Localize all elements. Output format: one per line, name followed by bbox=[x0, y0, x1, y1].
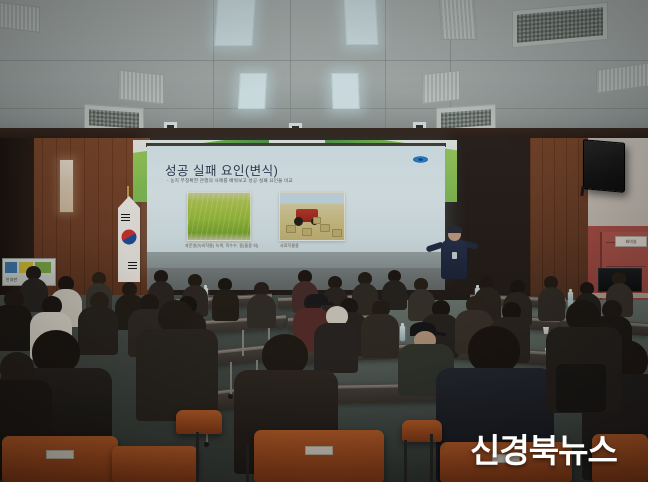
wall-sconce-light bbox=[59, 159, 74, 213]
table-leg bbox=[242, 330, 244, 356]
wall-board-label: 안내판 bbox=[6, 277, 17, 283]
blue-diamond-logo bbox=[412, 154, 429, 165]
slide-title: 성공 실패 요인(변식) bbox=[165, 160, 278, 179]
chair-leg bbox=[246, 444, 249, 482]
vent-3 bbox=[422, 70, 460, 104]
chair[interactable] bbox=[176, 410, 222, 434]
presenter bbox=[432, 228, 476, 292]
light-panel-4 bbox=[331, 73, 359, 109]
projection-screen: 성공 실패 요인(변식) - 농지 부정확한 관행의 사례를 배워보고 성공·실… bbox=[147, 146, 445, 268]
vent-5 bbox=[439, 0, 478, 40]
slide-caption-left: 자운영(녹비작물) 녹색, 옥수수, 콩(돌콩 외) bbox=[185, 243, 275, 249]
table-leg bbox=[230, 362, 232, 396]
light-panel-2 bbox=[344, 0, 379, 45]
bag bbox=[556, 364, 606, 412]
chair[interactable] bbox=[2, 436, 118, 482]
korean-national-flag bbox=[118, 196, 140, 282]
presenter-body bbox=[441, 239, 467, 279]
slide-bullet-text: - 농지 부정확한 관행의 사례를 배워보고 성공·실패 요인을 비교 bbox=[167, 178, 293, 184]
table-caster bbox=[204, 442, 209, 447]
light-panel-3 bbox=[238, 73, 267, 109]
taeguk-symbol bbox=[122, 230, 137, 245]
vent-2 bbox=[118, 70, 164, 105]
chair-leg bbox=[430, 434, 433, 482]
chair-leg bbox=[196, 432, 199, 482]
chair-leg bbox=[404, 440, 407, 482]
wall-mounted-speaker bbox=[583, 139, 625, 193]
slide-caption-right: 사료작물용 bbox=[280, 243, 299, 249]
water-bottle bbox=[400, 326, 405, 341]
chair[interactable] bbox=[402, 420, 442, 442]
chair-label-tag bbox=[305, 446, 333, 455]
photo-scene: 회의실 안내판 경북 농업기술원 한 교육과정 교육 성공 실패 요인(변식) … bbox=[0, 0, 648, 482]
table-caster bbox=[228, 394, 233, 399]
presenter-name-badge bbox=[452, 252, 457, 259]
light-panel-1 bbox=[214, 0, 255, 46]
presenter-cap bbox=[447, 226, 462, 233]
chair-label-tag bbox=[46, 450, 74, 459]
slide-image-tractor-field bbox=[279, 192, 345, 241]
ceiling bbox=[0, 0, 648, 132]
vent-1 bbox=[0, 1, 40, 33]
chair[interactable] bbox=[254, 430, 384, 482]
news-watermark: 신경북뉴스 bbox=[470, 424, 617, 472]
ac-unit-far-right bbox=[512, 2, 608, 48]
vent-4 bbox=[596, 62, 648, 94]
chair[interactable] bbox=[112, 446, 198, 482]
door-sign: 회의실 bbox=[615, 236, 647, 247]
slide-image-green-field bbox=[187, 192, 251, 241]
